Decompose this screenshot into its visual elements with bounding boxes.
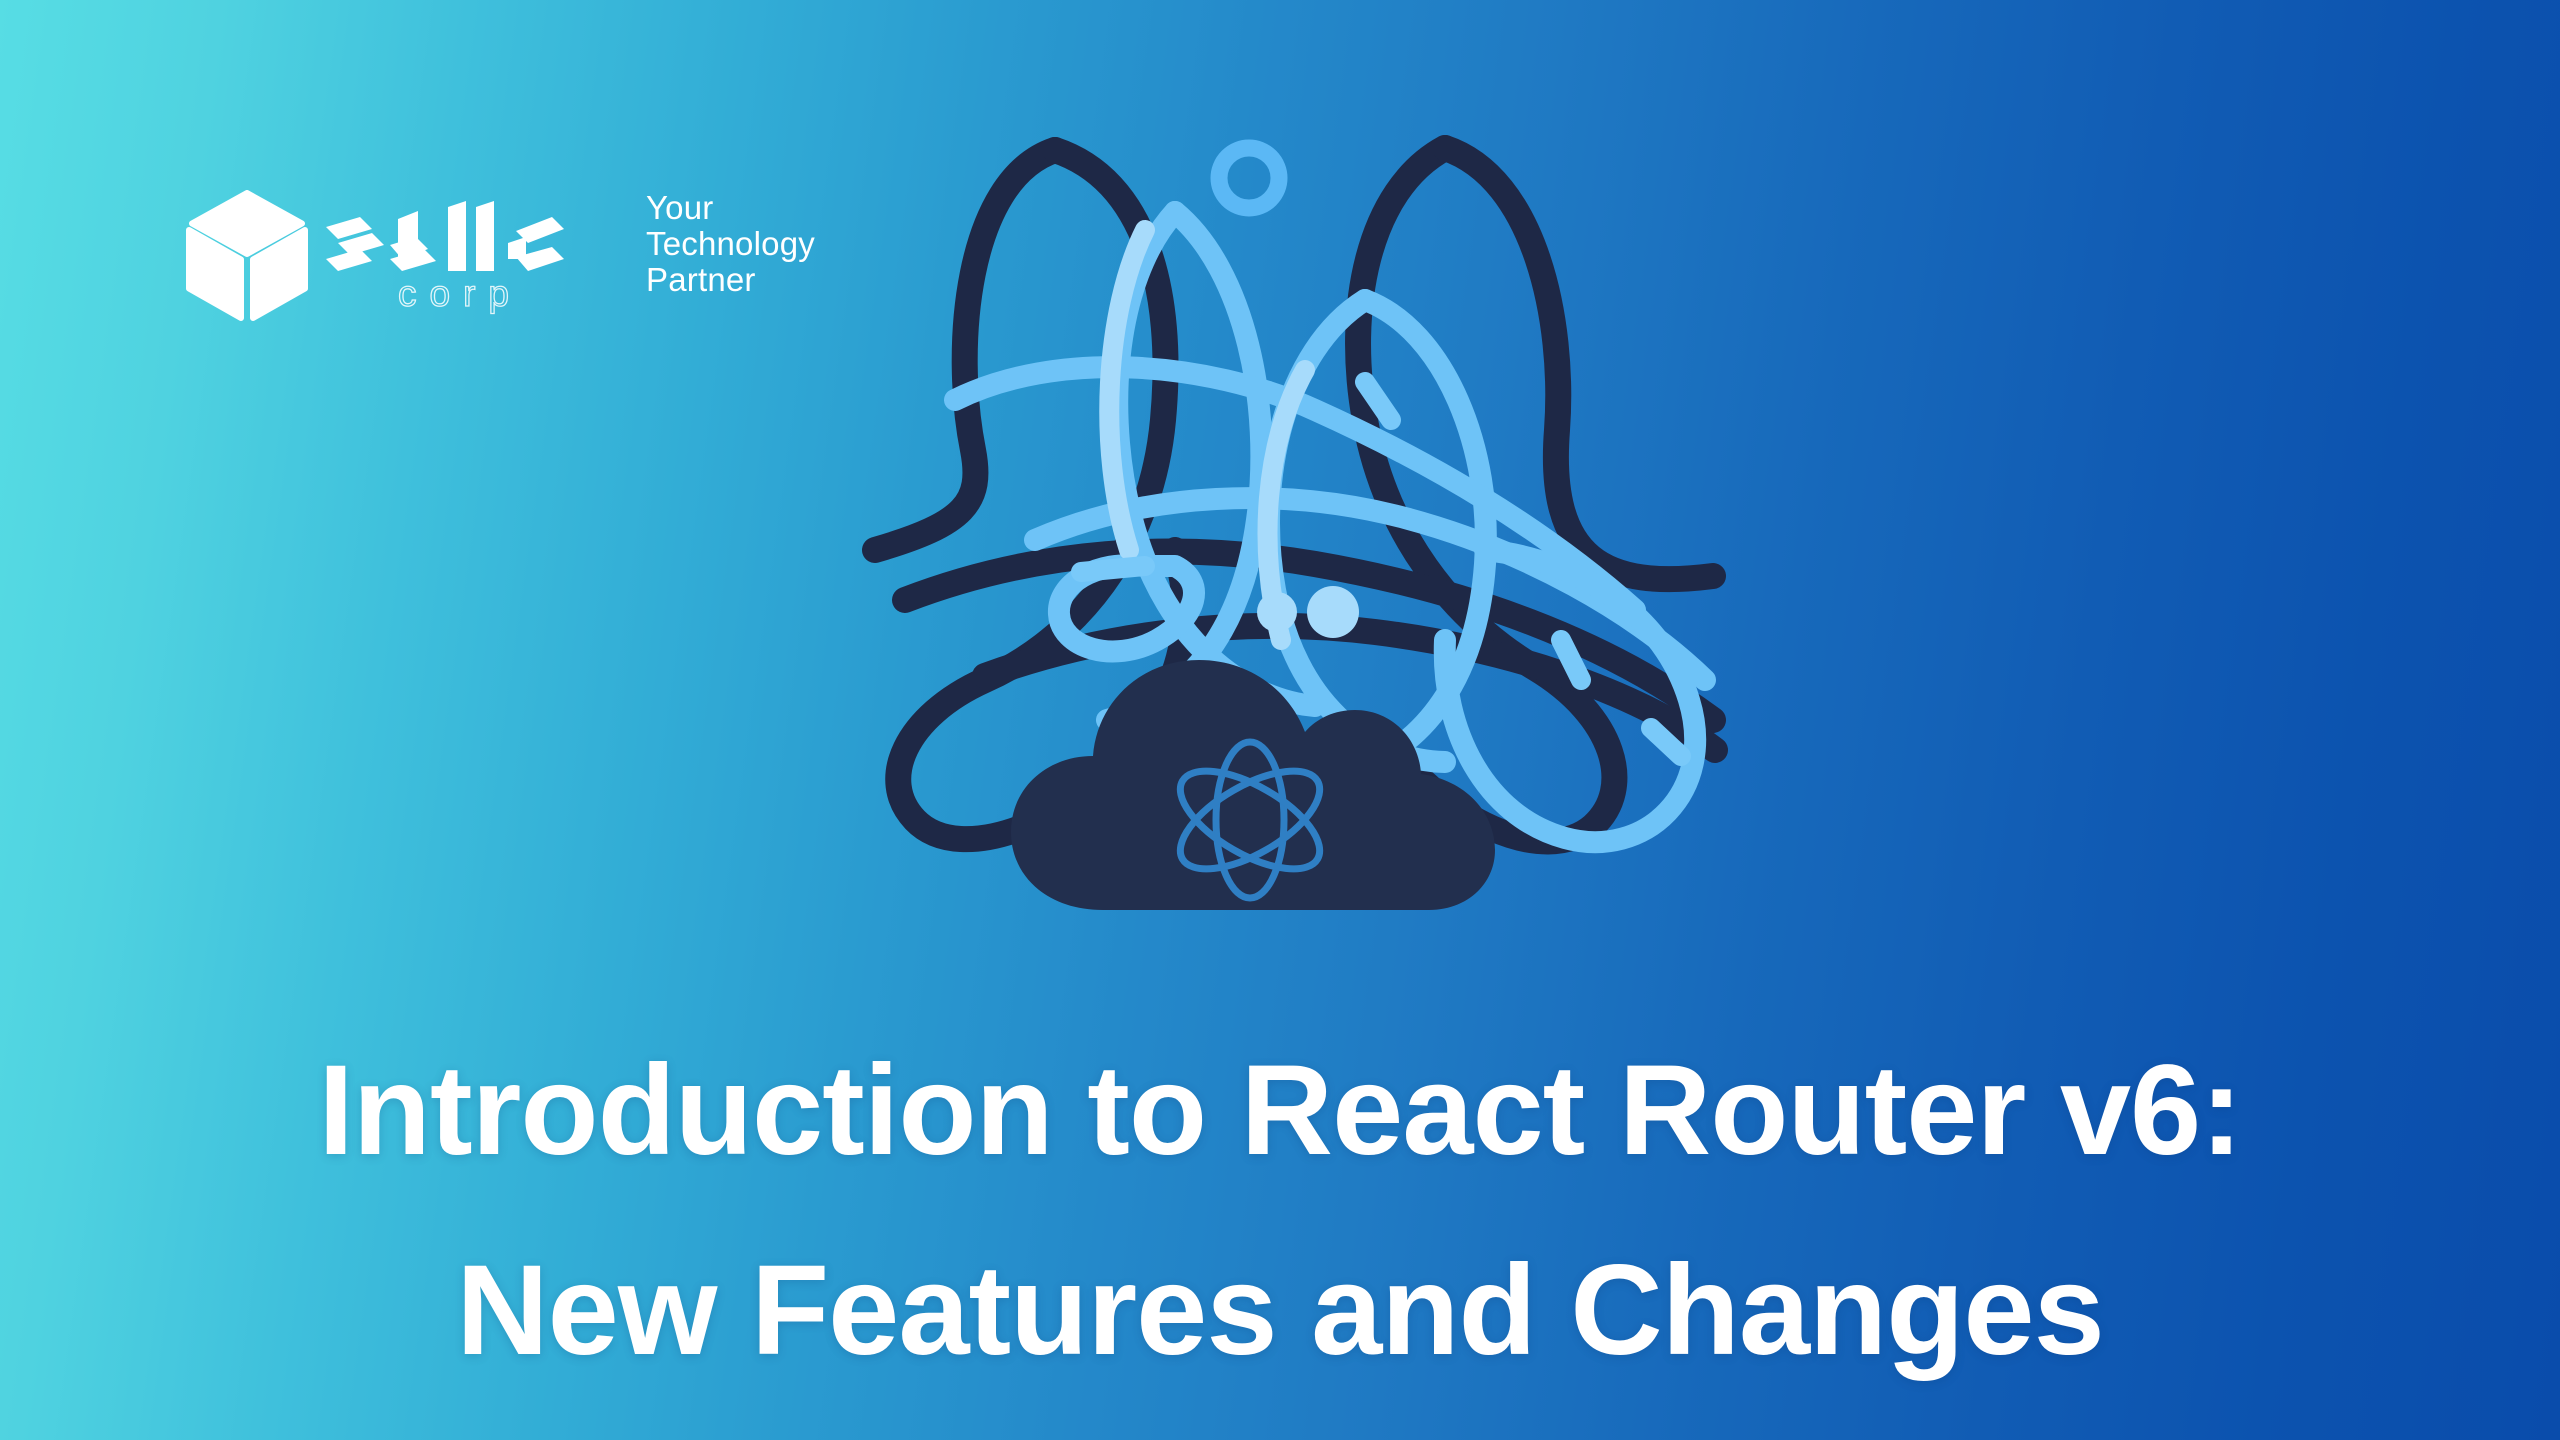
logo-tagline: Your Technology Partner [646, 190, 815, 298]
react-atom-orbits-illustration: .dk{fill:none;stroke:#1E2846;stroke-widt… [845, 120, 1765, 950]
cube-icon [186, 190, 308, 322]
logo-wordmark-group: corp [320, 190, 620, 322]
tagline-line-2: Technology [646, 226, 815, 262]
sdlc-corp-logo[interactable]: corp Your Technology Partner [186, 186, 815, 326]
tagline-line-1: Your [646, 190, 815, 226]
sdlc-wordmark [320, 201, 620, 279]
title-line-2: New Features and Changes [0, 1211, 2560, 1411]
title-line-1: Introduction to React Router v6: [0, 1011, 2560, 1211]
page-title: Introduction to React Router v6: New Fea… [0, 1011, 2560, 1411]
banner-canvas: corp Your Technology Partner .dk{fill:no… [0, 0, 2560, 1440]
corp-subword: corp [398, 275, 620, 312]
tagline-line-3: Partner [646, 262, 815, 298]
circle-ring-icon [1219, 148, 1279, 208]
